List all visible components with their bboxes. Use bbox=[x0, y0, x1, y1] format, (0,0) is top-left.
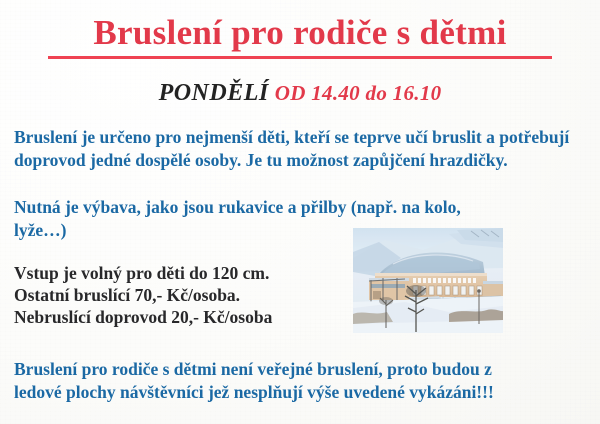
price-line-free-entry: Vstup je volný pro děti do 120 cm. bbox=[14, 262, 344, 284]
equipment-line-1: Nutná je výbava, jako jsou rukavice a př… bbox=[14, 196, 354, 219]
ice-rink-photo bbox=[353, 228, 503, 333]
equipment-paragraph: Nutná je výbava, jako jsou rukavice a př… bbox=[14, 196, 354, 242]
poster-canvas: Bruslení pro rodiče s dětmi PONDĚLÍOD 14… bbox=[0, 0, 600, 424]
pricing-paragraph: Vstup je volný pro děti do 120 cm. Ostat… bbox=[14, 262, 344, 328]
schedule-day-label: PONDĚLÍ bbox=[159, 80, 269, 106]
notice-line-2: ledové plochy návštěvníci jež nesplňují … bbox=[14, 381, 584, 404]
title-underline-rule bbox=[48, 56, 552, 59]
ice-rink-photo-graphic bbox=[353, 228, 503, 333]
price-line-escort: Nebruslící doprovod 20,- Kč/osoba bbox=[14, 306, 344, 328]
title-block: Bruslení pro rodiče s dětmi bbox=[0, 14, 600, 52]
equipment-line-2: lyže…) bbox=[14, 219, 354, 242]
notice-paragraph: Bruslení pro rodiče s dětmi není veřejné… bbox=[14, 358, 584, 404]
subtitle-block: PONDĚLÍOD 14.40 do 16.10 bbox=[0, 80, 600, 107]
page-title: Bruslení pro rodiče s dětmi bbox=[93, 14, 506, 52]
notice-line-1: Bruslení pro rodiče s dětmi není veřejné… bbox=[14, 358, 584, 381]
intro-paragraph: Bruslení je určeno pro nejmenší děti, kt… bbox=[14, 126, 570, 172]
schedule-time-label: OD 14.40 do 16.10 bbox=[275, 81, 442, 105]
price-line-skaters: Ostatní bruslící 70,- Kč/osoba. bbox=[14, 284, 344, 306]
